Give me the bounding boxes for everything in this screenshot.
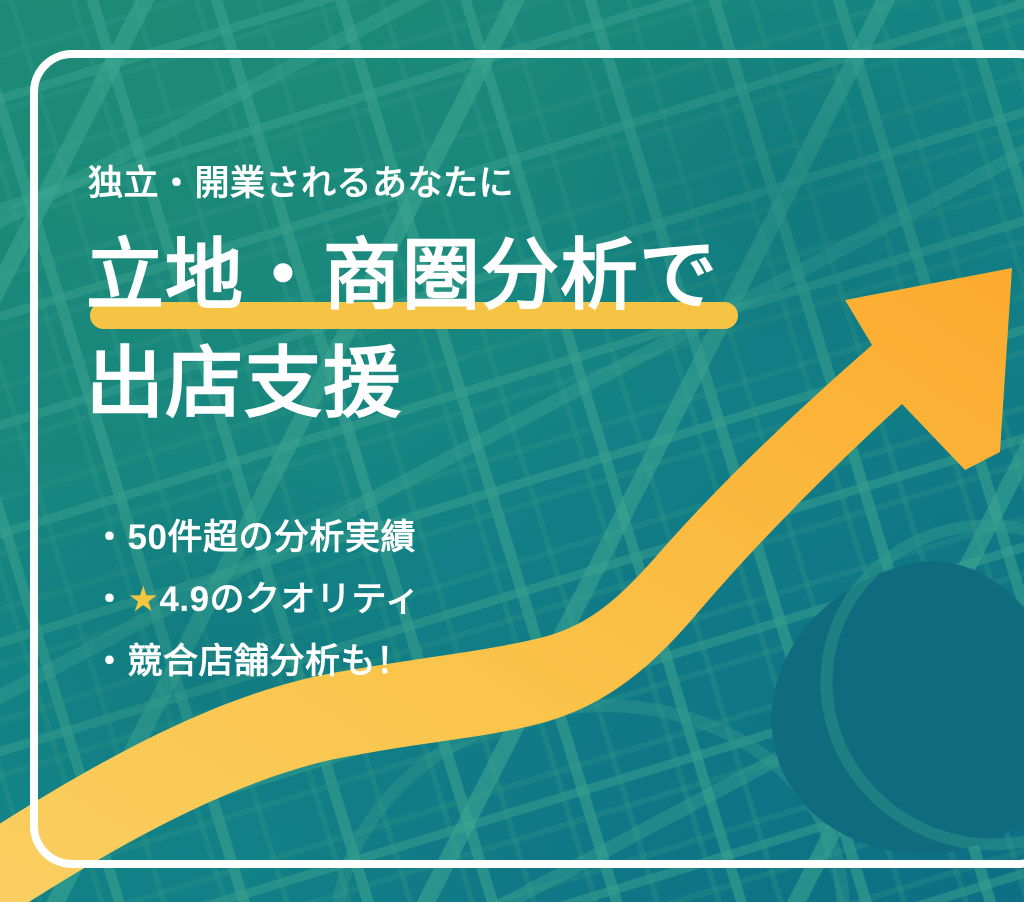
- list-item: ・50件超の分析実績: [92, 520, 420, 555]
- bullet-text: 競合店舗分析も！: [128, 642, 412, 681]
- banner-content: 独立・開業されるあなたに 立地・商圏分析で 出店支援 ・50件超の分析実績 ・★…: [0, 0, 1024, 902]
- bullet-text: 50件超の分析実績: [128, 518, 416, 557]
- headline: 立地・商圏分析で 出店支援: [86, 222, 946, 437]
- headline-line-1: 立地・商圏分析で: [86, 222, 946, 330]
- star-icon: ★: [128, 580, 160, 619]
- feature-bullet-list: ・50件超の分析実績 ・★4.9のクオリティ ・競合店舗分析も！: [92, 520, 420, 706]
- bullet-marker: ・: [92, 642, 128, 681]
- bullet-marker: ・: [92, 580, 128, 619]
- bullet-text: 4.9のクオリティ: [159, 580, 420, 619]
- bullet-marker: ・: [92, 518, 128, 557]
- promo-banner: 独立・開業されるあなたに 立地・商圏分析で 出店支援 ・50件超の分析実績 ・★…: [0, 0, 1024, 902]
- list-item: ・★4.9のクオリティ: [92, 582, 420, 617]
- eyebrow-text: 独立・開業されるあなたに: [88, 155, 514, 206]
- headline-line-2: 出店支援: [86, 330, 946, 438]
- list-item: ・競合店舗分析も！: [92, 644, 420, 679]
